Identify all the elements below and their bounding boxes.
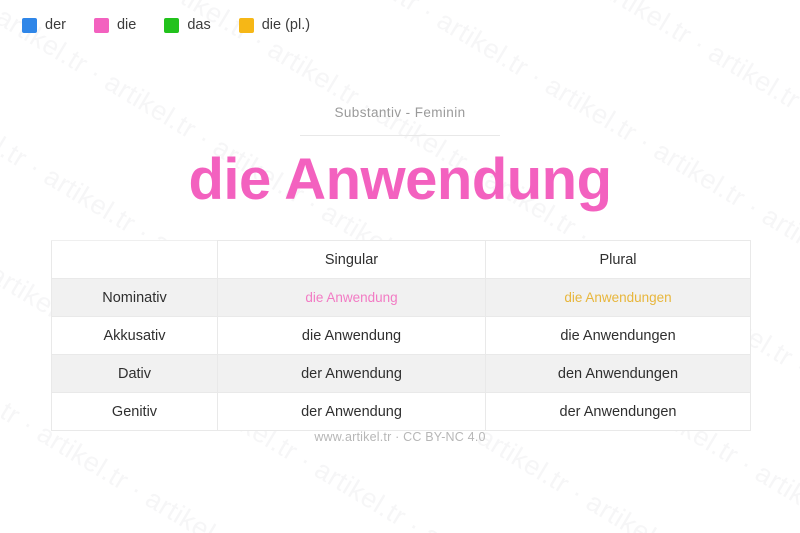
- declension-table: Singular Plural Nominativdie Anwendungdi…: [51, 240, 751, 431]
- cell-case: Dativ: [52, 355, 218, 393]
- watermark-text: artikel.tr · artikel.tr · artikel.tr · a…: [0, 0, 800, 72]
- cell-singular: der Anwendung: [218, 355, 486, 393]
- cell-case: Genitiv: [52, 393, 218, 431]
- color-swatch-icon: [164, 18, 179, 33]
- table-header-row: Singular Plural: [52, 241, 751, 279]
- cell-plural: der Anwendungen: [486, 393, 751, 431]
- table-row: Akkusativdie Anwendungdie Anwendungen: [52, 317, 751, 355]
- column-header-case: [52, 241, 218, 279]
- color-swatch-icon: [239, 18, 254, 33]
- article-color-legend: derdiedasdie (pl.): [22, 17, 338, 33]
- cell-singular: die Anwendung: [218, 317, 486, 355]
- legend-item-label: die (pl.): [262, 17, 310, 33]
- legend-item-der: der: [22, 17, 66, 33]
- column-header-singular: Singular: [218, 241, 486, 279]
- legend-item-label: die: [117, 17, 136, 33]
- table-row: Genitivder Anwendungder Anwendungen: [52, 393, 751, 431]
- column-header-plural: Plural: [486, 241, 751, 279]
- legend-item-das: das: [164, 17, 210, 33]
- footer-attribution: www.artikel.tr · CC BY-NC 4.0: [0, 430, 800, 444]
- table-body: Nominativdie Anwendungdie AnwendungenAkk…: [52, 279, 751, 431]
- legend-item-die: die: [94, 17, 136, 33]
- legend-item-label: der: [45, 17, 66, 33]
- page-title: die Anwendung: [0, 149, 800, 212]
- table-header: Singular Plural: [52, 241, 751, 279]
- table-row: Nominativdie Anwendungdie Anwendungen: [52, 279, 751, 317]
- cell-plural: die Anwendungen: [486, 279, 751, 317]
- table-row: Dativder Anwendungden Anwendungen: [52, 355, 751, 393]
- cell-case: Akkusativ: [52, 317, 218, 355]
- legend-item-label: das: [187, 17, 210, 33]
- color-swatch-icon: [22, 18, 37, 33]
- cell-singular: die Anwendung: [218, 279, 486, 317]
- cell-plural: die Anwendungen: [486, 317, 751, 355]
- watermark-text: artikel.tr · artikel.tr · artikel.tr · a…: [0, 473, 701, 533]
- word-part-of-speech: Substantiv - Feminin: [0, 104, 800, 122]
- header-divider: [300, 135, 500, 136]
- word-header: Substantiv - Feminin die Anwendung: [0, 104, 800, 212]
- legend-item-diepl: die (pl.): [239, 17, 310, 33]
- color-swatch-icon: [94, 18, 109, 33]
- cell-plural: den Anwendungen: [486, 355, 751, 393]
- cell-singular: der Anwendung: [218, 393, 486, 431]
- cell-case: Nominativ: [52, 279, 218, 317]
